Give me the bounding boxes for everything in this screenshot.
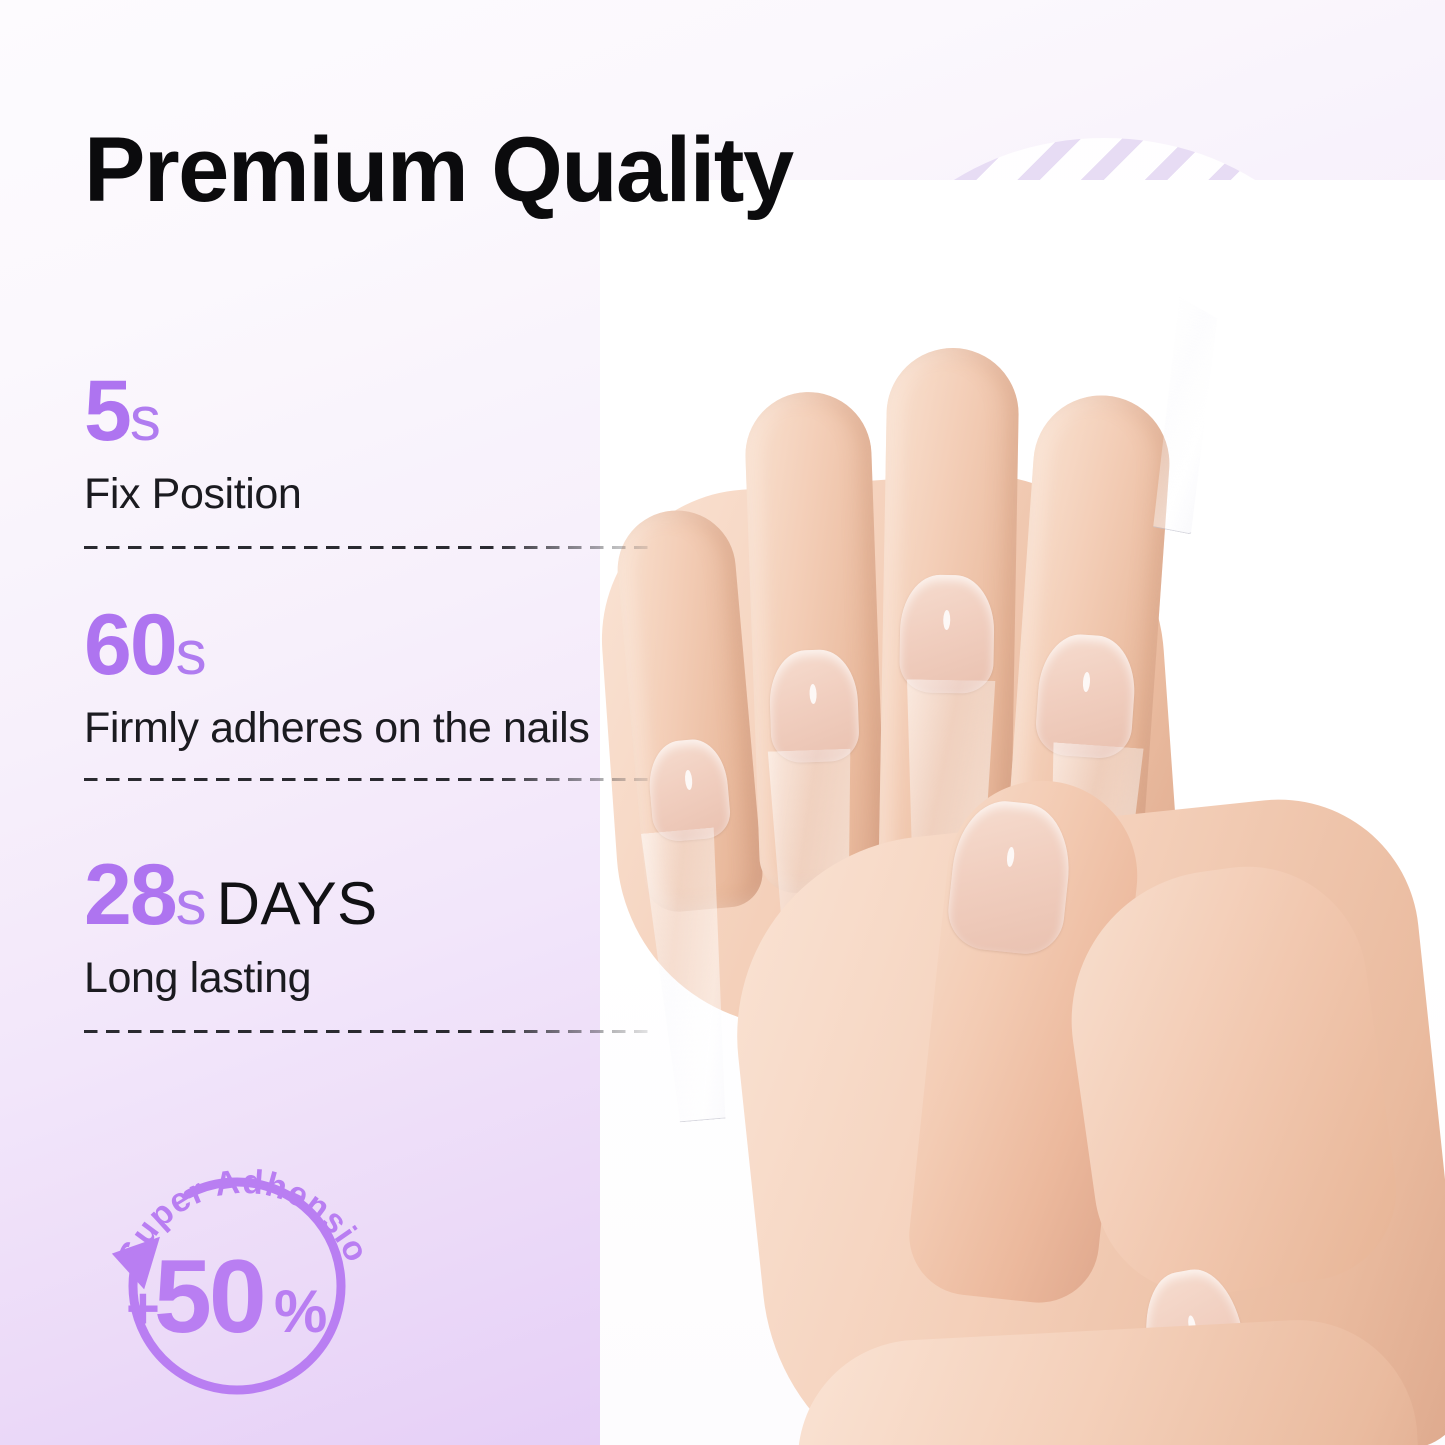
page-title: Premium Quality xyxy=(84,124,793,216)
feature-label: Long lasting xyxy=(84,954,664,1003)
feature-item-long-lasting: 28sDAYS Long lasting xyxy=(84,852,664,1003)
badge-percent-sign: % xyxy=(274,1278,327,1345)
feature-label: Fix Position xyxy=(84,470,664,519)
feature-value: 28sDAYS xyxy=(84,852,664,938)
nail-plate-middle xyxy=(899,574,995,694)
feature-divider-2 xyxy=(84,778,650,781)
feature-divider-1 xyxy=(84,546,650,549)
feature-value: 60s xyxy=(84,602,664,688)
feature-number: 60 xyxy=(84,597,176,693)
feature-divider-3 xyxy=(84,1030,650,1033)
feature-number: 5 xyxy=(84,363,130,459)
super-adhension-badge: Super Adhension + 50 % xyxy=(92,1118,382,1408)
feature-suffix: DAYS xyxy=(217,870,378,937)
feature-label: Firmly adheres on the nails xyxy=(84,704,664,753)
product-infographic: Premium Quality 5s Fix Position 60s Firm… xyxy=(0,0,1445,1445)
feature-unit: s xyxy=(176,869,207,938)
feature-number: 28 xyxy=(84,847,176,943)
feature-value: 5s xyxy=(84,368,664,454)
badge-value: 50 xyxy=(154,1239,264,1355)
feature-unit: s xyxy=(130,385,161,454)
feature-unit: s xyxy=(176,619,207,688)
feature-item-fix-position: 5s Fix Position xyxy=(84,368,664,519)
product-photo xyxy=(600,180,1445,1445)
feature-item-firmly-adheres: 60s Firmly adheres on the nails xyxy=(84,602,664,753)
nail-plate-ring xyxy=(768,648,860,763)
